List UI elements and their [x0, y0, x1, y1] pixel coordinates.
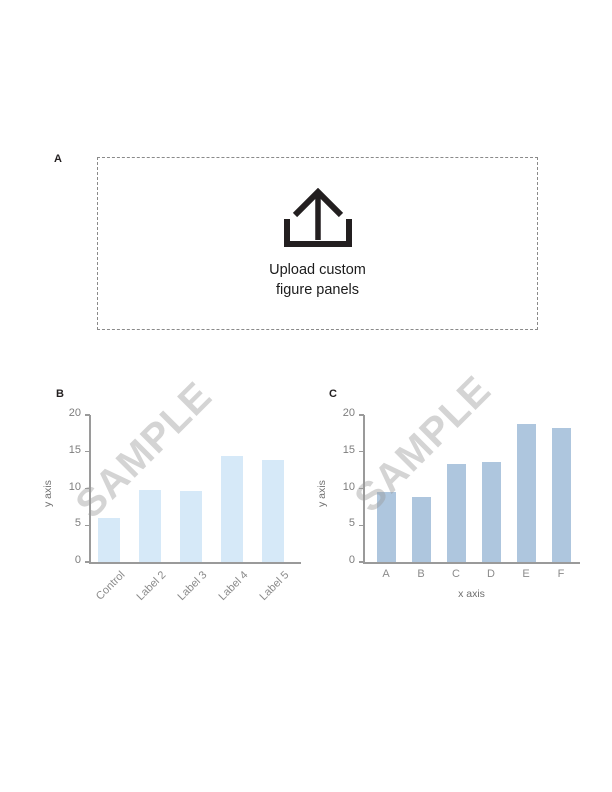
x-axis-line — [89, 562, 301, 564]
upload-arrow-icon — [277, 188, 359, 250]
panel-letter-b: B — [56, 388, 64, 400]
dropzone-content: Upload custom figure panels — [98, 158, 537, 329]
y-axis-tick — [85, 488, 90, 489]
x-axis-category-label: Label 4 — [205, 569, 250, 614]
x-axis-category-label: Label 2 — [123, 569, 168, 614]
y-axis-tick-label: 0 — [49, 554, 81, 566]
x-axis-line — [363, 562, 580, 564]
y-axis-tick-label: 20 — [323, 407, 355, 419]
chart-panel-c: 05101520y axisABCDEFx axisSAMPLE — [315, 400, 585, 620]
y-axis-line — [363, 415, 365, 564]
y-axis-tick — [359, 561, 364, 562]
y-axis-tick-label: 20 — [49, 407, 81, 419]
y-axis-tick — [85, 561, 90, 562]
y-axis-tick — [359, 451, 364, 452]
x-axis-category-label: F — [541, 568, 581, 580]
x-axis-category-label: E — [506, 568, 546, 580]
y-axis-tick-label: 5 — [323, 517, 355, 529]
bar-chart-b: 05101520y axisControlLabel 2Label 3Label… — [40, 400, 305, 620]
y-axis-tick — [85, 525, 90, 526]
y-axis-title: y axis — [316, 480, 328, 507]
bar — [552, 428, 571, 562]
x-axis-category-label: C — [436, 568, 476, 580]
bar — [221, 456, 243, 562]
y-axis-tick-label: 5 — [49, 517, 81, 529]
bar-chart-c: 05101520y axisABCDEFx axisSAMPLE — [315, 400, 585, 620]
figure-page: A Upload custom figure panels B 05101520… — [0, 0, 612, 792]
y-axis-tick — [359, 525, 364, 526]
chart-panel-b: 05101520y axisControlLabel 2Label 3Label… — [40, 400, 305, 620]
y-axis-title: y axis — [42, 480, 54, 507]
bar — [482, 462, 501, 562]
panel-letter-c: C — [329, 388, 337, 400]
panel-letter-a: A — [54, 153, 62, 165]
y-axis-line — [89, 415, 91, 564]
y-axis-tick-label: 15 — [49, 444, 81, 456]
dropzone-prompt-text: Upload custom figure panels — [269, 260, 366, 300]
x-axis-title: x axis — [442, 588, 502, 600]
bar — [412, 497, 431, 562]
y-axis-tick — [359, 414, 364, 415]
x-axis-category-label: A — [366, 568, 406, 580]
x-axis-category-label: Control — [82, 569, 127, 614]
bar — [180, 491, 202, 562]
y-axis-tick-label: 15 — [323, 444, 355, 456]
x-axis-category-label: Label 3 — [164, 569, 209, 614]
upload-dropzone[interactable]: Upload custom figure panels — [97, 157, 538, 330]
y-axis-tick — [85, 414, 90, 415]
bar — [517, 424, 536, 562]
bar — [447, 464, 466, 562]
y-axis-tick — [359, 488, 364, 489]
bar — [377, 492, 396, 562]
y-axis-tick — [85, 451, 90, 452]
x-axis-category-label: Label 5 — [246, 569, 291, 614]
x-axis-category-label: D — [471, 568, 511, 580]
x-axis-category-label: B — [401, 568, 441, 580]
y-axis-tick-label: 0 — [323, 554, 355, 566]
bar — [98, 518, 120, 562]
bar — [139, 490, 161, 562]
bar — [262, 460, 284, 562]
